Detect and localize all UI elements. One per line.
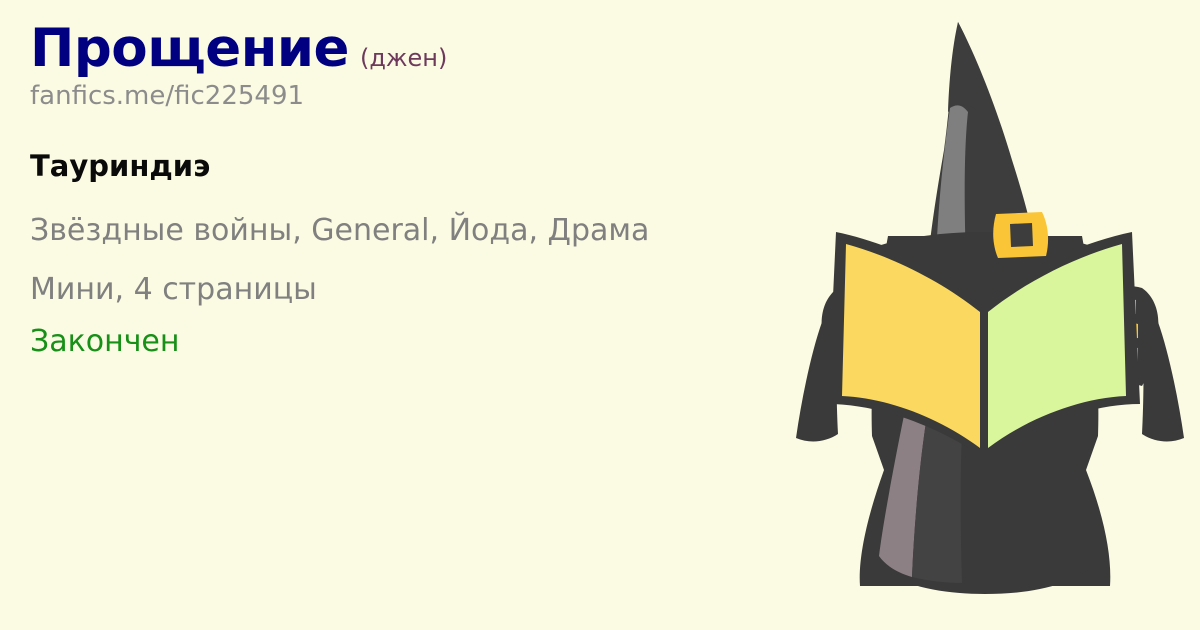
fandom-and-tags: Звёздные войны, General, Йода, Драма — [30, 213, 730, 250]
fanfic-preview-card: Прощение (джен) fanfics.me/fic225491 Тау… — [0, 0, 1200, 630]
title-row: Прощение (джен) — [30, 22, 790, 75]
wizard-hat — [872, 22, 1098, 290]
book-spine — [981, 306, 987, 456]
wizard-illustration-svg — [780, 0, 1200, 630]
page-title: Прощение — [30, 22, 349, 75]
right-sleeve — [1142, 320, 1184, 441]
wizard-reading-book-illustration — [780, 0, 1200, 630]
buckle-hole — [1010, 223, 1033, 247]
genre-tag: (джен) — [360, 46, 447, 70]
fanfic-info-block: Прощение (джен) fanfics.me/fic225491 Тау… — [30, 22, 790, 360]
size-and-pages: Мини, 4 страницы — [30, 272, 790, 308]
source-url[interactable]: fanfics.me/fic225491 — [30, 82, 790, 111]
status-badge: Закончен — [30, 324, 790, 360]
hat-buckle — [993, 212, 1048, 258]
author-name[interactable]: Тауриндиэ — [30, 150, 790, 183]
